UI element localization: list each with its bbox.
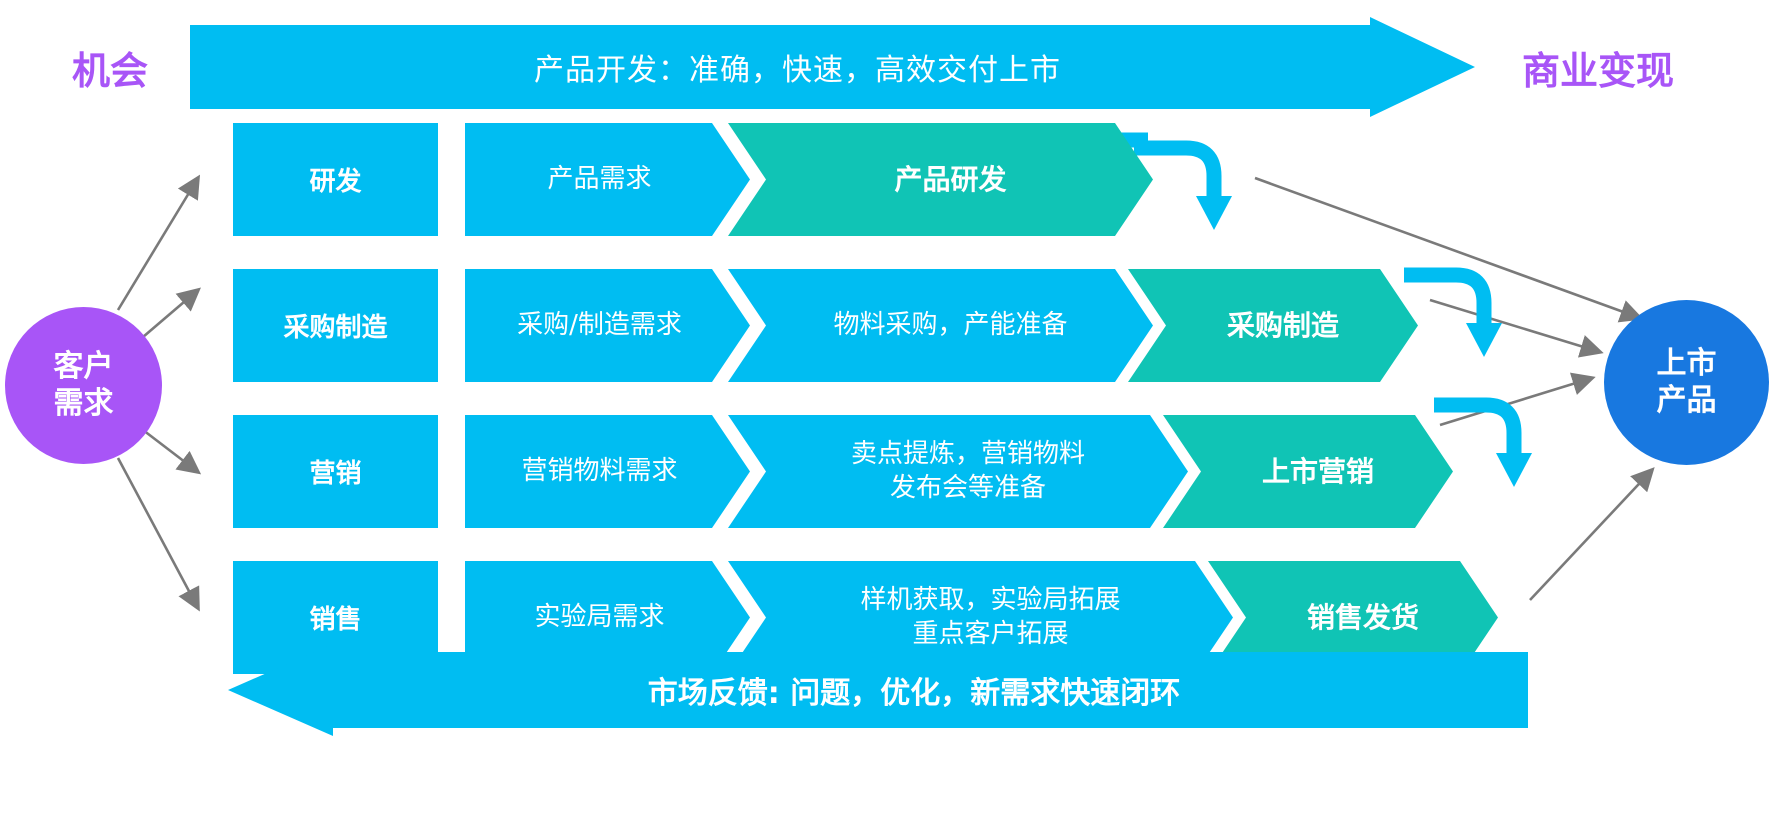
stage-rnd-development[interactable]: 产品研发 xyxy=(728,123,1153,236)
stage-label: 实验局需求 xyxy=(520,601,694,634)
customer-need-line2: 需求 xyxy=(54,386,114,423)
hook-arrow-row2 xyxy=(1400,265,1520,365)
stage-procurement-manufacture[interactable]: 采购制造 xyxy=(1128,269,1418,382)
stage-procurement-requirement[interactable]: 采购/制造需求 xyxy=(465,269,750,382)
opportunity-label: 机会 xyxy=(72,40,148,95)
customer-need-line1: 客户 xyxy=(54,349,114,386)
stage-rnd-requirement[interactable]: 产品需求 xyxy=(465,123,750,236)
row-label-procurement[interactable]: 采购制造 xyxy=(233,269,438,382)
launch-product-node: 上市 产品 xyxy=(1604,300,1769,465)
stage-label: 产品研发 xyxy=(860,162,1020,198)
stage-label: 销售发货 xyxy=(1273,600,1433,636)
row-label-marketing[interactable]: 营销 xyxy=(233,415,438,528)
stage-label: 卖点提炼，营销物料 发布会等准备 xyxy=(817,438,1099,505)
row-label-rnd[interactable]: 研发 xyxy=(233,123,438,236)
stage-label: 上市营销 xyxy=(1228,454,1388,490)
feedback-banner-text: 市场反馈: 问题，优化，新需求快速闭环 xyxy=(300,644,1528,736)
stage-label: 采购/制造需求 xyxy=(503,309,712,342)
stage-label: 样机获取，实验局拓展 重点客户拓展 xyxy=(826,584,1134,651)
stage-marketing-requirement[interactable]: 营销物料需求 xyxy=(465,415,750,528)
stage-launch-marketing[interactable]: 上市营销 xyxy=(1163,415,1453,528)
monetization-label: 商业变现 xyxy=(1522,40,1674,95)
hook-arrow-row3 xyxy=(1430,395,1550,495)
stage-material-purchase[interactable]: 物料采购，产能准备 xyxy=(728,269,1153,382)
stage-label: 产品需求 xyxy=(533,163,681,196)
hook-arrow-row1 xyxy=(1130,138,1250,238)
stage-label: 营销物料需求 xyxy=(507,455,707,488)
customer-need-node: 客户 需求 xyxy=(5,307,162,464)
stage-marketing-prep[interactable]: 卖点提炼，营销物料 发布会等准备 xyxy=(728,415,1188,528)
stage-label: 采购制造 xyxy=(1193,308,1353,344)
top-banner-text: 产品开发：准确，快速，高效交付上市 xyxy=(190,17,1405,117)
launch-product-line1: 上市 xyxy=(1657,346,1717,383)
launch-product-line2: 产品 xyxy=(1657,383,1717,420)
stage-label: 物料采购，产能准备 xyxy=(799,309,1081,342)
diagram-canvas: 产品开发：准确，快速，高效交付上市 机会 商业变现 xyxy=(0,0,1773,837)
